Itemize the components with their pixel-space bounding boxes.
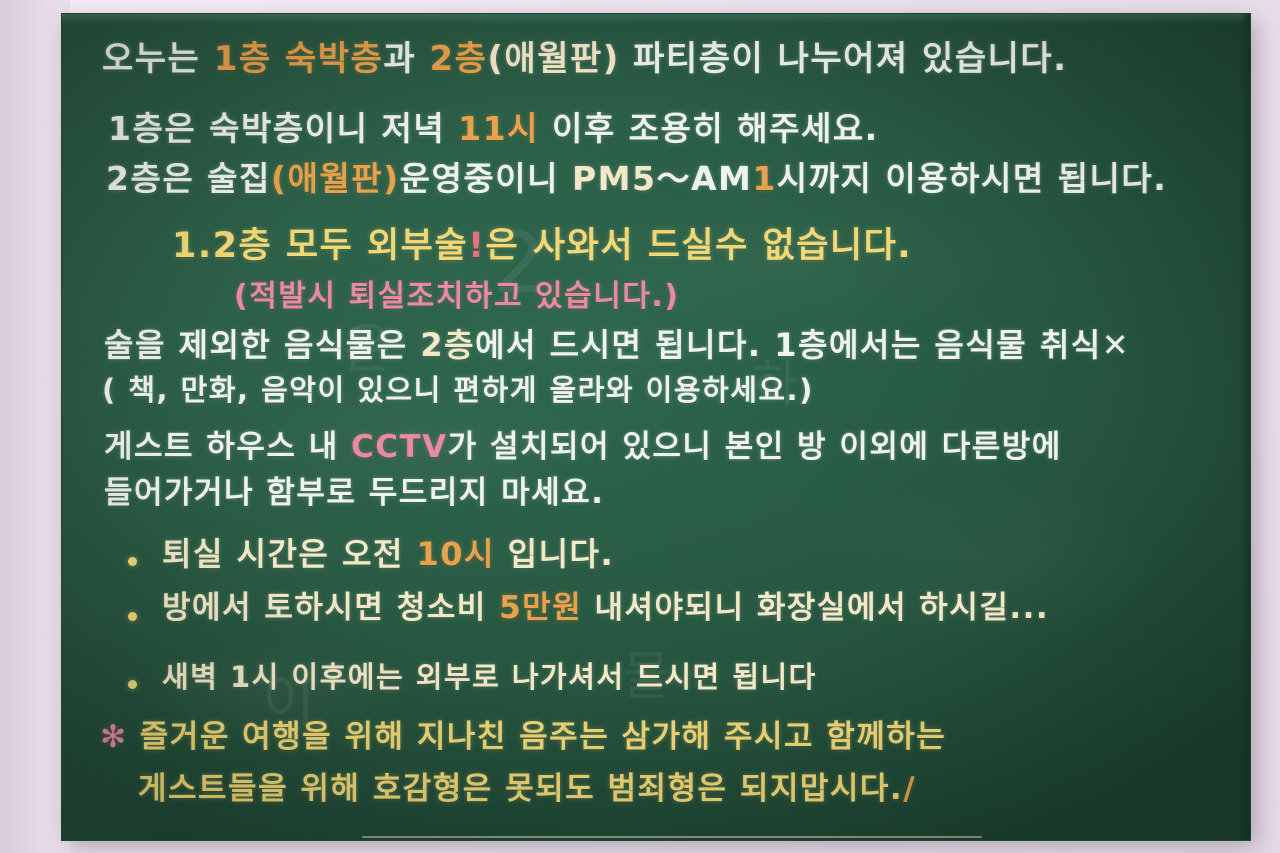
- line4-part-a: 1.2층 모두 외부술: [172, 226, 468, 266]
- closing2-flourish: /: [903, 771, 916, 807]
- bullet2-part-c: 내셔야되니 화장실에서 하시길...: [582, 590, 1049, 626]
- line1-part-a: 오누는: [102, 39, 214, 79]
- notice-line-1: 오누는 1층 숙박층과 2층(애월판) 파티층이 나누어져 있습니다.: [102, 42, 1068, 76]
- notice-line-8-cctv: 게스트 하우스 내 CCTV가 설치되어 있으니 본인 방 이외에 다른방에: [104, 432, 1062, 463]
- bullet2-part-b: 5만원: [499, 590, 582, 626]
- closing2-part-a: 게스트들을 위해 호감형은 못되도 범죄형은 되지맙시다.: [138, 771, 903, 807]
- line2-part-a: 1층은 숙박층이니 저녁: [108, 109, 458, 148]
- closing1-part-b: 즐거운 여행을 위해 지나친 음주는 삼가해 주시고 함께하는: [127, 719, 946, 755]
- line2-part-b: 11시: [458, 109, 539, 148]
- line6-part-a: 술을 제외한 음식물은: [104, 326, 420, 364]
- line5-part-a: (적발시 퇴실조치하고 있습니다.): [234, 279, 680, 314]
- bullet3-part-a: 새벽 1시 이후에는 외부로 나가셔서 드시면 됩니다: [162, 660, 817, 694]
- notice-line-4-outside-alcohol-rule: 1.2층 모두 외부술!은 사와서 드실수 없습니다.: [172, 229, 912, 264]
- bullet-point-icon: [128, 557, 137, 566]
- bullet1-part-b: 10시: [417, 535, 495, 573]
- bullet1-part-c: 입니다.: [495, 535, 614, 573]
- line3-part-b: (애월판): [271, 159, 400, 198]
- line8-part-c: 가 설치되어 있으니 본인 방 이외에 다른방에: [448, 429, 1062, 465]
- line6-part-d: 1층: [774, 326, 829, 364]
- line6-part-e: 에서는 음식물 취식: [829, 326, 1102, 364]
- line6-part-c: 에서 드시면 됩니다.: [475, 326, 774, 364]
- notice-line-6: 술을 제외한 음식물은 2층에서 드시면 됩니다. 1층에서는 음식물 취식✕: [104, 329, 1130, 361]
- line8-cctv-label: CCTV: [351, 429, 448, 465]
- bullet-point-icon: [128, 680, 137, 689]
- bullet2-part-a: 방에서 토하시면 청소비: [162, 590, 499, 626]
- notice-line-3: 2층은 술집(애월판)운영중이니 PM5〜AM1시까지 이용하시면 됩니다.: [106, 162, 1167, 195]
- line2-part-c: 이후 조용히 해주세요.: [539, 109, 879, 148]
- line1-part-b: 1층 숙박층: [214, 39, 384, 79]
- line7-part-a: ( 책, 만화, 음악이 있으니 편하게 올라와 이용하세요.): [102, 373, 814, 407]
- line3-part-g: 시까지: [777, 159, 873, 198]
- chalkboard: 2 은 하 이 물 오누는 1층 숙박층과 2층(애월판) 파티층이 나누어져 …: [62, 14, 1250, 840]
- line1-part-c: 과: [383, 39, 429, 79]
- line6-part-b: 2층: [420, 326, 475, 364]
- notice-line-5-eviction-note: (적발시 퇴실조치하고 있습니다.): [234, 282, 680, 312]
- notice-line-7: ( 책, 만화, 음악이 있으니 편하게 올라와 이용하세요.): [102, 376, 814, 405]
- line1-part-e: (애월판): [487, 39, 619, 79]
- notice-closing-line-1: ✻ 즐거운 여행을 위해 지나친 음주는 삼가해 주시고 함께하는: [100, 722, 946, 753]
- line8-part-a: 게스트 하우스 내: [104, 429, 351, 465]
- notice-bullet-3-late-night-food: 새벽 1시 이후에는 외부로 나가셔서 드시면 됩니다: [162, 663, 817, 692]
- notice-line-2: 1층은 숙박층이니 저녁 11시 이후 조용히 해주세요.: [108, 112, 879, 145]
- wall-left-shadow: [0, 0, 70, 853]
- chalkboard-photo: 2 은 하 이 물 오누는 1층 숙박층과 2층(애월판) 파티층이 나누어져 …: [0, 0, 1280, 853]
- line4-part-c: 은 사와서 드실수 없습니다.: [486, 226, 913, 266]
- line1-part-d: 2층: [429, 39, 487, 79]
- line3-part-h: 이용하시면 됩니다.: [872, 159, 1167, 198]
- bullet1-part-a: 퇴실 시간은 오전: [162, 535, 417, 573]
- line9-part-a: 들어가거나 함부로 두드리지 마세요.: [104, 475, 604, 511]
- bullet-point-icon: [128, 612, 137, 621]
- line3-part-e: 〜AM: [656, 159, 752, 198]
- line4-exclamation: !: [468, 226, 485, 266]
- line3-part-d: PM5: [572, 159, 657, 198]
- line6-cross-mark: ✕: [1102, 326, 1130, 364]
- closing-underline: [362, 836, 982, 838]
- line3-part-f: 1: [752, 159, 776, 198]
- notice-bullet-1-checkout-time: 퇴실 시간은 오전 10시 입니다.: [162, 538, 614, 570]
- asterisk-icon: ✻: [100, 719, 127, 755]
- notice-text-block: 오누는 1층 숙박층과 2층(애월판) 파티층이 나누어져 있습니다. 1층은 …: [62, 14, 1250, 840]
- notice-closing-line-2: 게스트들을 위해 호감형은 못되도 범죄형은 되지맙시다./: [138, 774, 916, 805]
- notice-bullet-2-cleaning-fee: 방에서 토하시면 청소비 5만원 내셔야되니 화장실에서 하시길...: [162, 593, 1049, 624]
- line3-part-c: 운영중이니: [400, 159, 572, 198]
- line3-part-a: 2층은 술집: [106, 159, 271, 198]
- line1-part-f: 파티층이 나누어져 있습니다.: [620, 39, 1068, 79]
- notice-line-9: 들어가거나 함부로 두드리지 마세요.: [104, 478, 604, 509]
